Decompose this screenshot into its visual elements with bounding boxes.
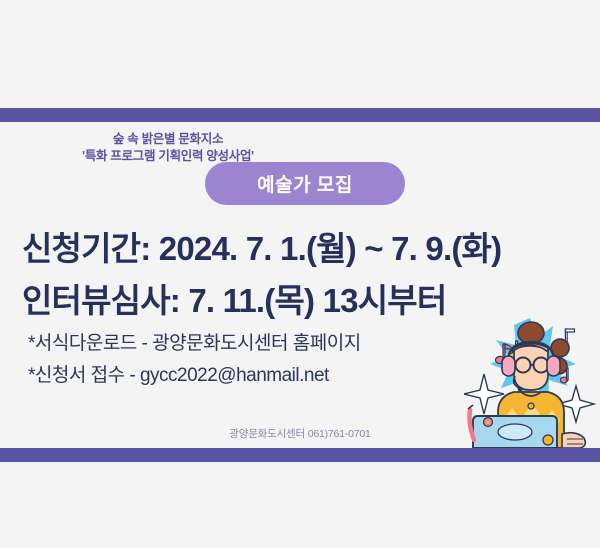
recruit-badge: 예술가 모집 (205, 162, 405, 205)
interview-date-line: 인터뷰심사: 7. 11.(목) 13시부터 (22, 274, 446, 322)
person-with-laptop-illustration (464, 312, 598, 448)
application-period-line: 신청기간: 2024. 7. 1.(월) ~ 7. 9.(화) (22, 222, 501, 270)
eyebrow-line-1: 숲 속 밝은별 문화지소 (0, 131, 336, 148)
application-email-note: *신청서 접수 - gycc2022@hanmail.net (28, 360, 329, 387)
poster-canvas: 숲 속 밝은별 문화지소 '특화 프로그램 기획인력 양성사업' 예술가 모집 … (0, 0, 600, 548)
eyebrow-text: 숲 속 밝은별 문화지소 '특화 프로그램 기획인력 양성사업' (0, 131, 336, 165)
divider-top (0, 108, 600, 122)
form-download-note: *서식다운로드 - 광양문화도시센터 홈페이지 (28, 328, 361, 355)
divider-bottom (0, 448, 600, 462)
